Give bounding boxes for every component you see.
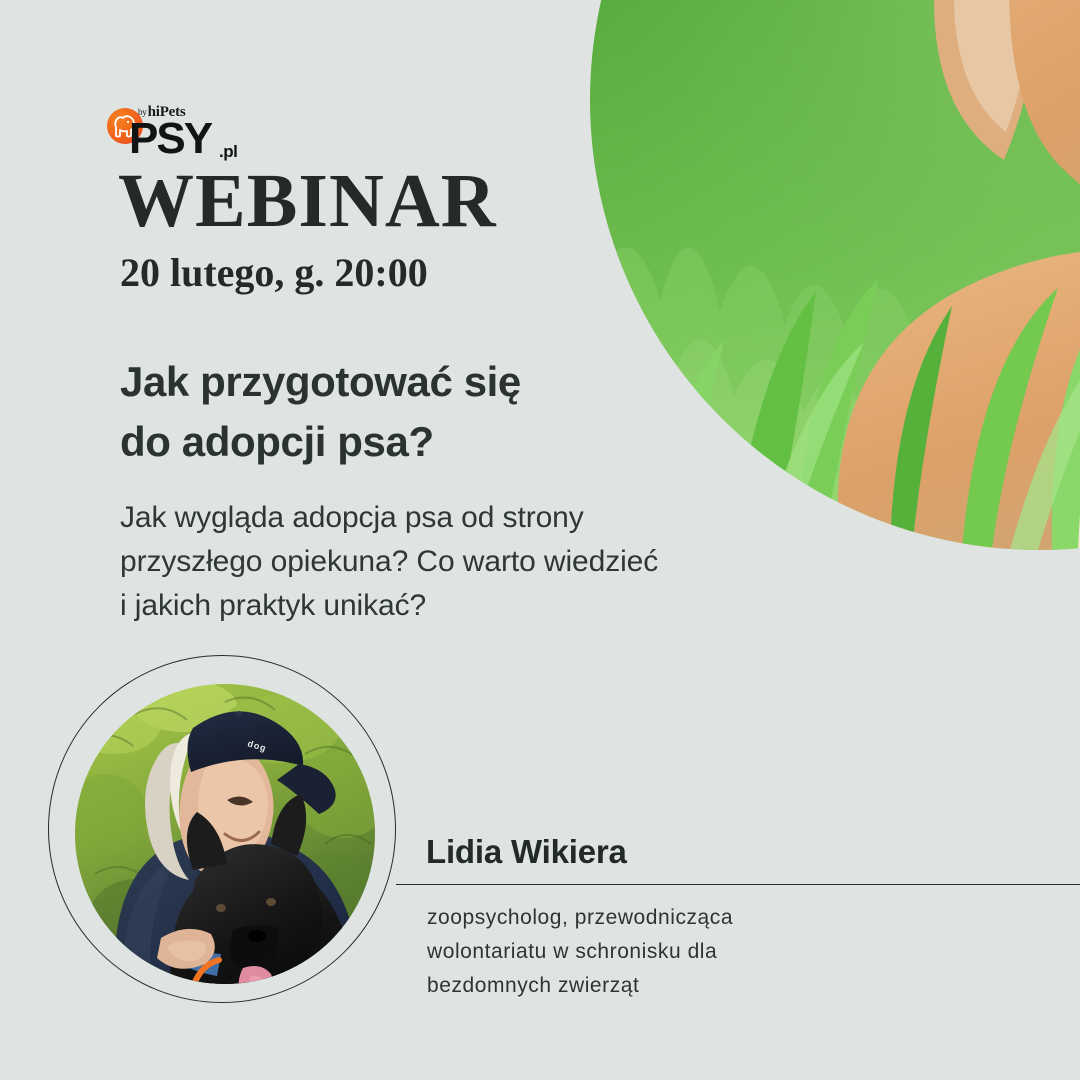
speaker-divider (396, 884, 1080, 885)
logo-tld: .pl (219, 143, 237, 160)
event-date: 20 lutego, g. 20:00 (120, 253, 428, 293)
logo-psy-wordmark: PSY (129, 117, 211, 161)
webinar-poster: byhiPets PSY .pl WEBINAR 20 lutego, g. 2… (0, 0, 1080, 1080)
speaker-avatar: dog (75, 684, 375, 984)
speaker-name: Lidia Wikiera (426, 835, 627, 868)
webinar-description: Jak wygląda adopcja psa od strony przysz… (120, 496, 658, 628)
page-title: WEBINAR (118, 163, 497, 239)
webinar-topic-heading: Jak przygotować się do adopcji psa? (120, 352, 521, 471)
hero-dog-image (590, 0, 1080, 550)
brand-logo[interactable]: byhiPets PSY .pl (107, 104, 327, 166)
speaker-role: zoopsycholog, przewodnicząca wolontariat… (427, 901, 733, 1003)
